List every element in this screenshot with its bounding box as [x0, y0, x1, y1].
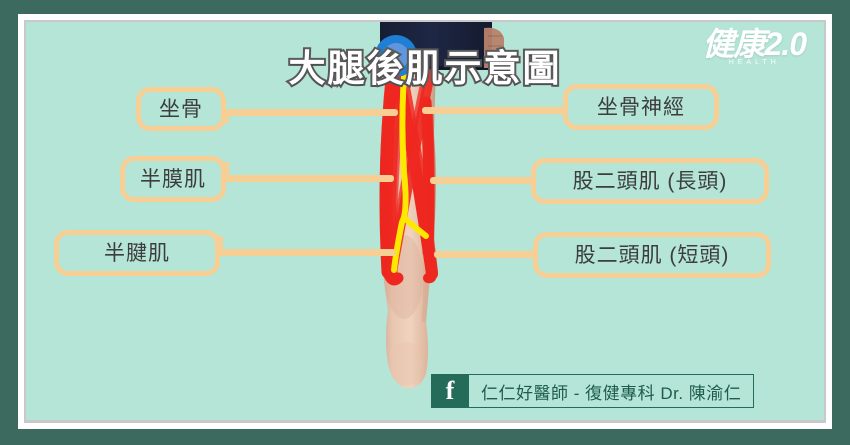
label-biceps-femoris-short[interactable]: 股二頭肌 (短頭)	[533, 232, 771, 278]
logo-sub-text: HEALTH	[703, 59, 807, 66]
label-semitendinosus[interactable]: 半腱肌	[54, 230, 220, 276]
label-semimembranosus-text: 半膜肌	[140, 169, 206, 190]
facebook-attribution[interactable]: f 仁仁好醫師 - 復健專科 Dr. 陳渝仁	[431, 374, 754, 408]
connector-sciatic-nerve	[422, 107, 570, 114]
logo-main-text: 健康2.0	[703, 28, 807, 60]
facebook-page-name: 仁仁好醫師 - 復健專科 Dr. 陳渝仁	[469, 374, 754, 408]
connector-ischium	[222, 109, 398, 116]
label-semitendinosus-text: 半腱肌	[104, 243, 170, 264]
connector-semimembranosus	[222, 175, 394, 182]
label-biceps-femoris-short-text: 股二頭肌 (短頭)	[575, 245, 730, 266]
label-semimembranosus[interactable]: 半膜肌	[120, 156, 226, 202]
facebook-icon: f	[431, 374, 469, 408]
infographic-root: 大腿後肌示意圖 健康2.0 HEALTH	[0, 0, 850, 445]
label-biceps-femoris-long[interactable]: 股二頭肌 (長頭)	[531, 158, 769, 204]
label-ischium[interactable]: 坐骨	[136, 87, 226, 131]
connector-semitendinosus	[216, 249, 396, 256]
label-biceps-femoris-long-text: 股二頭肌 (長頭)	[573, 171, 728, 192]
canvas: 大腿後肌示意圖 健康2.0 HEALTH	[26, 22, 824, 420]
label-sciatic-nerve-text: 坐骨神經	[597, 97, 685, 118]
health-2-0-logo: 健康2.0 HEALTH	[703, 28, 807, 66]
label-ischium-text: 坐骨	[159, 99, 203, 120]
